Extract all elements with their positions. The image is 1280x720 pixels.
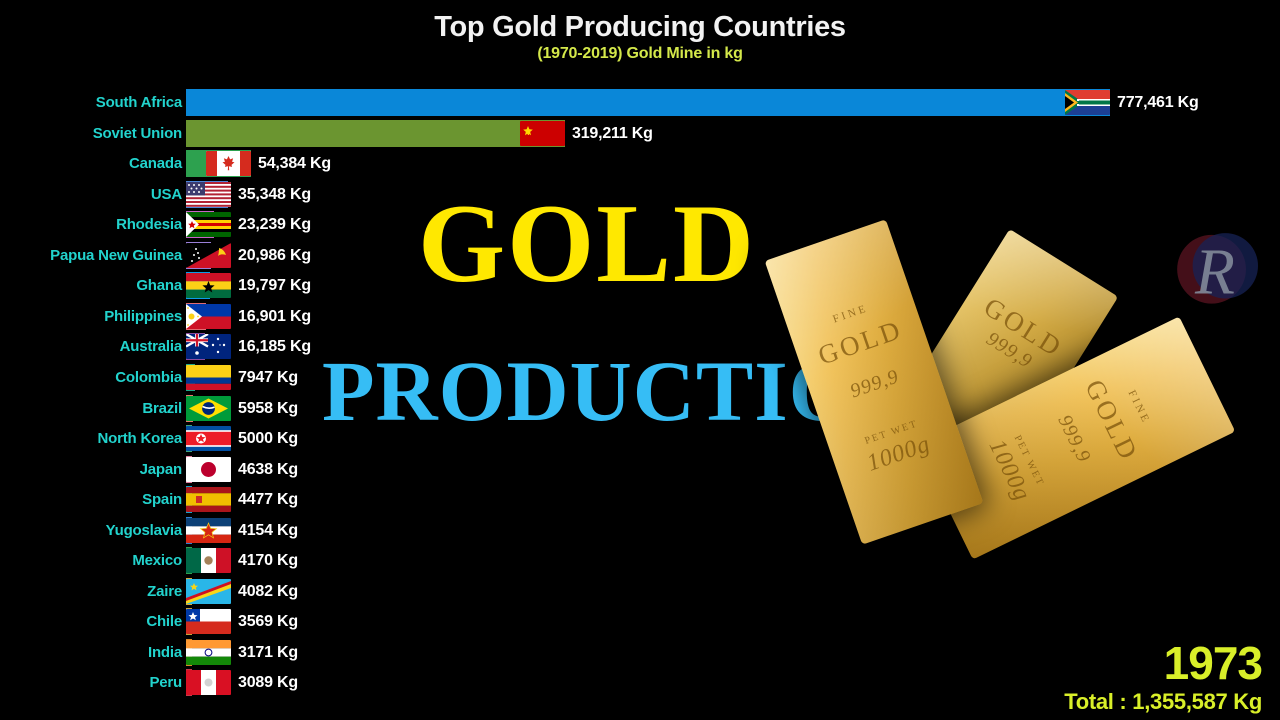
flag-icon bbox=[186, 640, 231, 665]
flag-icon bbox=[186, 548, 231, 573]
bar-value-label: 7947 Kg bbox=[238, 369, 298, 387]
bar-row-country-label: Colombia bbox=[115, 369, 182, 386]
bar-value-label: 777,461 Kg bbox=[1117, 94, 1199, 112]
bar-row-country-label: India bbox=[148, 644, 182, 661]
bar-row-country-label: Soviet Union bbox=[93, 125, 182, 142]
flag-icon bbox=[520, 121, 565, 146]
bar-value-label: 5958 Kg bbox=[238, 400, 298, 418]
channel-watermark-icon: R bbox=[1172, 228, 1258, 314]
bar-value-label: 4154 Kg bbox=[238, 522, 298, 540]
bar bbox=[186, 89, 1110, 116]
bar-row-label-holder: Japan bbox=[0, 456, 182, 483]
flag-icon bbox=[186, 487, 231, 512]
flag-icon bbox=[186, 579, 231, 604]
flag-icon bbox=[186, 304, 231, 329]
bar-value-label: 4638 Kg bbox=[238, 461, 298, 479]
flag-icon bbox=[186, 396, 231, 421]
bar bbox=[186, 120, 565, 147]
flag-icon bbox=[186, 182, 231, 207]
bar-value-label: 3171 Kg bbox=[238, 644, 298, 662]
bar-value-label: 3089 Kg bbox=[238, 674, 298, 692]
bar-row-country-label: Japan bbox=[140, 461, 182, 478]
bar-row-country-label: Canada bbox=[129, 155, 182, 172]
bar-value-label: 4170 Kg bbox=[238, 552, 298, 570]
bar-value-label: 3569 Kg bbox=[238, 613, 298, 631]
flag-icon bbox=[186, 273, 231, 298]
svg-text:R: R bbox=[1194, 236, 1235, 308]
bar-row-label-holder: South Africa bbox=[0, 89, 182, 116]
bar-row-country-label: Chile bbox=[146, 613, 182, 630]
bar-row-country-label: Australia bbox=[120, 338, 182, 355]
bar-row-label-holder: Rhodesia bbox=[0, 211, 182, 238]
bar-row-country-label: Zaire bbox=[147, 583, 182, 600]
flag-icon bbox=[186, 365, 231, 390]
bar-row-country-label: Philippines bbox=[104, 308, 182, 325]
total-production: Total : 1,355,587 Kg bbox=[1064, 686, 1262, 714]
year-counter: 1973 bbox=[1064, 640, 1262, 686]
total-amount: 1,355,587 Kg bbox=[1132, 689, 1262, 714]
bar-value-label: 4477 Kg bbox=[238, 491, 298, 509]
bar-row-country-label: Brazil bbox=[142, 400, 182, 417]
bar-row-label-holder: USA bbox=[0, 181, 182, 208]
bar-row: Canada 54,384 Kg bbox=[0, 150, 1280, 177]
bar-row-label-holder: Papua New Guinea bbox=[0, 242, 182, 269]
bar-value-label: 16,185 Kg bbox=[238, 338, 311, 356]
flag-icon bbox=[186, 457, 231, 482]
flag-icon bbox=[186, 334, 231, 359]
page-title: Top Gold Producing Countries bbox=[0, 0, 1280, 42]
flag-icon bbox=[206, 151, 251, 176]
bar-row-label-holder: Philippines bbox=[0, 303, 182, 330]
bar-row-label-holder: Mexico bbox=[0, 547, 182, 574]
bar-row-label-holder: Soviet Union bbox=[0, 120, 182, 147]
flag-icon bbox=[186, 243, 231, 268]
chart-header: Top Gold Producing Countries (1970-2019)… bbox=[0, 0, 1280, 63]
bar-row: Chile 3569 Kg bbox=[0, 608, 1280, 635]
bar-row-country-label: Spain bbox=[142, 491, 182, 508]
overlay-title-gold: GOLD bbox=[418, 188, 756, 300]
flag-icon bbox=[186, 426, 231, 451]
bar-row-label-holder: Colombia bbox=[0, 364, 182, 391]
bar-row-country-label: Peru bbox=[149, 674, 182, 691]
bar-row-label-holder: Canada bbox=[0, 150, 182, 177]
bar-row-country-label: North Korea bbox=[98, 430, 182, 447]
bar-value-label: 19,797 Kg bbox=[238, 277, 311, 295]
bar-value-label: 23,239 Kg bbox=[238, 216, 311, 234]
bar-row-country-label: USA bbox=[151, 186, 182, 203]
bar-row-country-label: Rhodesia bbox=[116, 216, 182, 233]
bar-value-label: 319,211 Kg bbox=[572, 125, 653, 143]
flag-icon bbox=[1065, 90, 1110, 115]
bar-value-label: 35,348 Kg bbox=[238, 186, 311, 204]
bar-row-label-holder: India bbox=[0, 639, 182, 666]
bar-row-label-holder: Zaire bbox=[0, 578, 182, 605]
bar-row-country-label: Mexico bbox=[132, 552, 182, 569]
bar-row-label-holder: Australia bbox=[0, 333, 182, 360]
bar-row-label-holder: North Korea bbox=[0, 425, 182, 452]
page-subtitle: (1970-2019) Gold Mine in kg bbox=[0, 42, 1280, 63]
total-label: Total : bbox=[1064, 689, 1126, 714]
bar-value-label: 5000 Kg bbox=[238, 430, 298, 448]
bar-row-label-holder: Brazil bbox=[0, 395, 182, 422]
bar-row-label-holder: Peru bbox=[0, 669, 182, 696]
flag-icon bbox=[186, 609, 231, 634]
bar-value-label: 54,384 Kg bbox=[258, 155, 331, 173]
bar-row: Soviet Union 319,211 Kg bbox=[0, 120, 1280, 147]
bar-row: South Africa 777,461 Kg bbox=[0, 89, 1280, 116]
bar-row-label-holder: Spain bbox=[0, 486, 182, 513]
flag-icon bbox=[186, 212, 231, 237]
bar-row-label-holder: Yugoslavia bbox=[0, 517, 182, 544]
bar-value-label: 20,986 Kg bbox=[238, 247, 311, 265]
bar-value-label: 16,901 Kg bbox=[238, 308, 311, 326]
bar-row-country-label: South Africa bbox=[96, 94, 182, 111]
bar-row-country-label: Ghana bbox=[136, 277, 182, 294]
year-total-block: 1973 Total : 1,355,587 Kg bbox=[1064, 640, 1262, 714]
bar-value-label: 4082 Kg bbox=[238, 583, 298, 601]
flag-icon bbox=[186, 518, 231, 543]
bar-row-label-holder: Ghana bbox=[0, 272, 182, 299]
flag-icon bbox=[186, 670, 231, 695]
bar-row-label-holder: Chile bbox=[0, 608, 182, 635]
bar-row-country-label: Yugoslavia bbox=[106, 522, 182, 539]
bar-row-country-label: Papua New Guinea bbox=[50, 247, 182, 264]
